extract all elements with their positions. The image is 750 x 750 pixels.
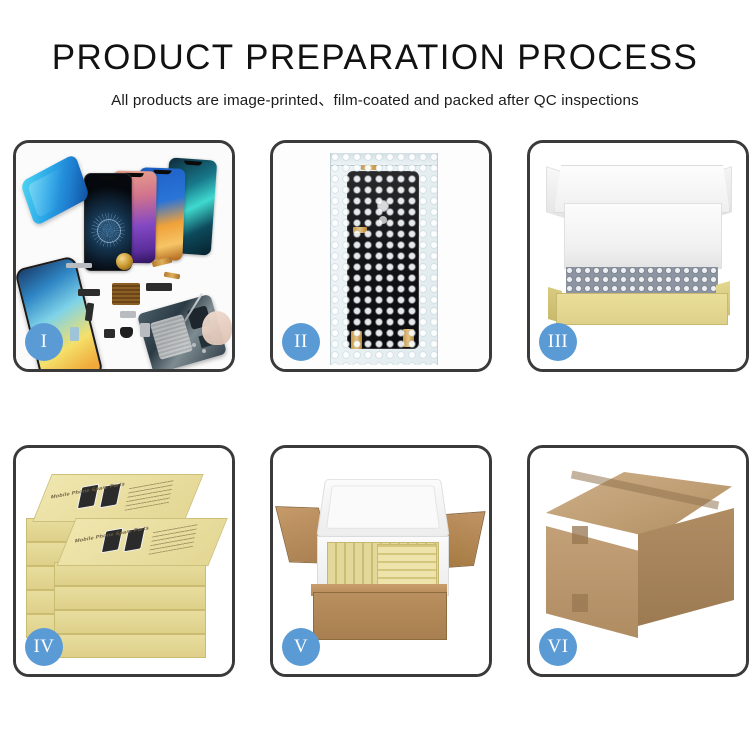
bubble-wrap-bag [330,153,438,365]
part-screw-a [192,343,196,347]
part-vibration-motor [120,327,133,338]
labelled-box-top-front: Mobile Phone Spare Parts [56,518,227,566]
step-panel-2: II [270,140,492,372]
part-sim-tray [140,323,150,337]
foam-box-lid [316,479,449,537]
step-panel-1: I [13,140,235,372]
step-panel-3: III [527,140,749,372]
step-badge-3: III [539,323,577,361]
labelled-box-top-rear: Mobile Phone Spare Parts [32,474,203,522]
technician-hand [202,311,232,345]
part-button-bracket [104,329,115,338]
foam-sheet [564,203,722,269]
part-connector-grid [112,283,140,305]
step-badge-6: VI [539,628,577,666]
packed-boxes-row-b [377,544,437,586]
carton-tape-upper [572,526,588,544]
part-camera-module [70,327,79,341]
carton-tape-lower [572,594,588,612]
stacked-box-edge [54,634,206,658]
kraft-box-front [556,293,728,325]
carton-front-panel [313,592,447,640]
page-header: PRODUCT PREPARATION PROCESS All products… [0,0,750,110]
page-title: PRODUCT PREPARATION PROCESS [0,38,750,79]
part-speaker-mesh [66,263,92,268]
step-panel-6: VI [527,445,749,677]
step-badge-4: IV [25,628,63,666]
step-badge-1: I [25,323,63,361]
bubble-texture [331,153,437,365]
process-step-grid: I II [13,140,737,677]
part-copper-coil [116,253,133,270]
stacked-box-edge [54,610,206,634]
label-feature-list [149,523,198,555]
part-connector-a [78,289,100,296]
step-badge-2: II [282,323,320,361]
step-panel-5: V [270,445,492,677]
label-feature-list [125,479,174,511]
part-screw-b [202,349,206,353]
part-ribbon-cable [146,283,172,291]
bubble-wrap-layer [566,267,718,293]
stacked-box-edge [54,586,206,610]
part-shield-plate [120,311,136,318]
step-badge-5: V [282,628,320,666]
page-subtitle: All products are image-printed、film-coat… [0,88,750,110]
step-panel-4: Mobile Phone Spare Parts Mobile Phone Sp… [13,445,235,677]
